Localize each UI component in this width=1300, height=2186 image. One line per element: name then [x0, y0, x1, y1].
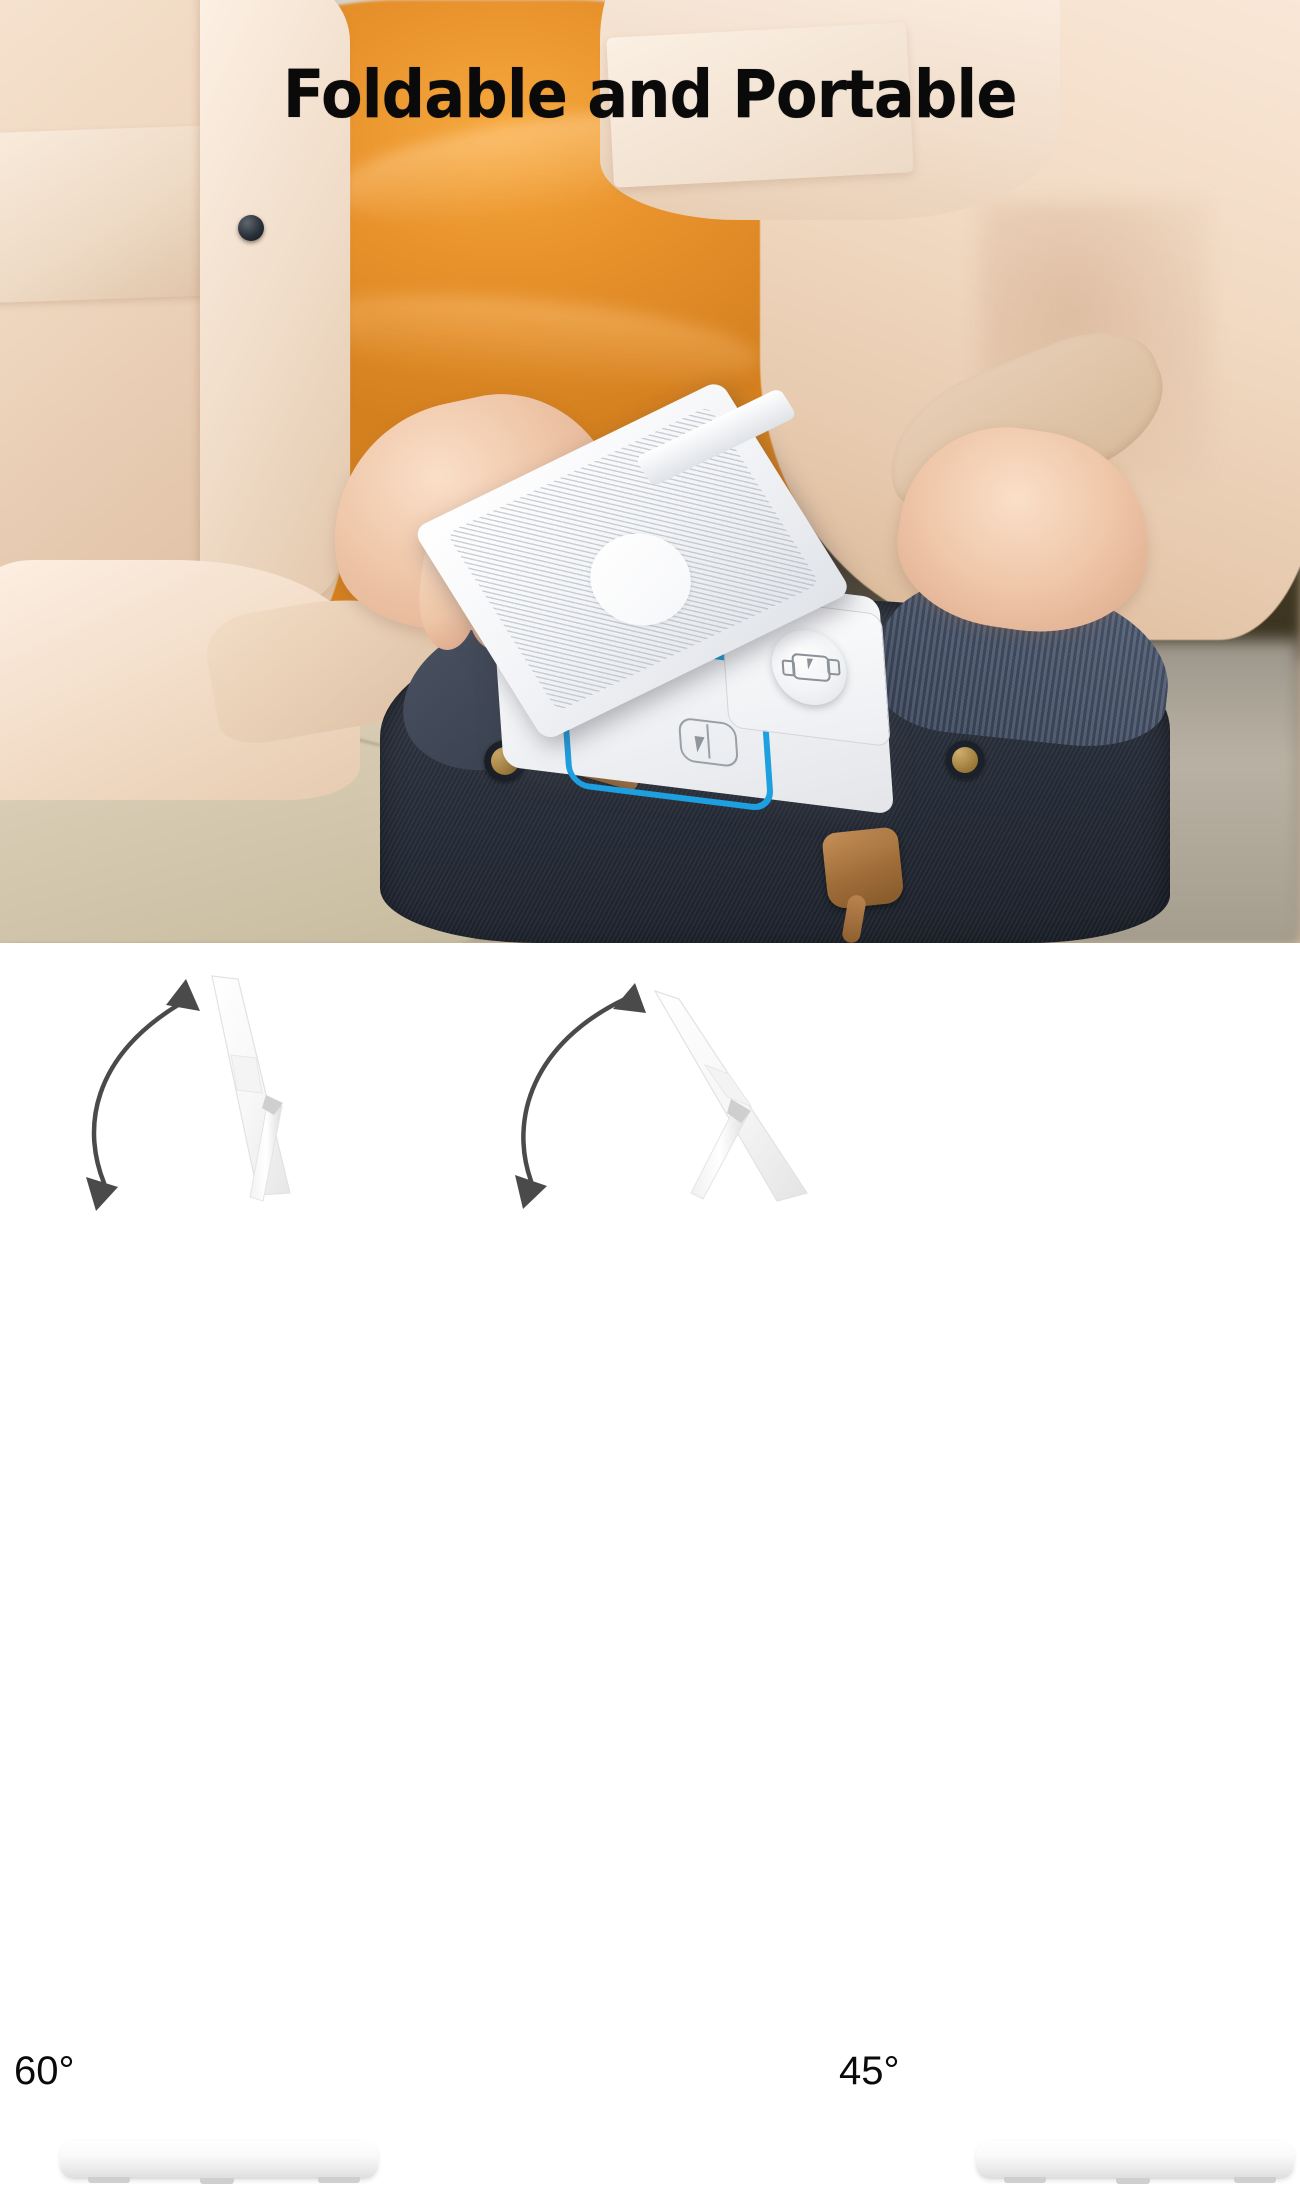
stand-angle-diagram-panel: 60°	[0, 943, 1300, 1256]
stand-base-bar	[976, 2141, 1294, 2179]
stand-base-bar	[60, 2141, 378, 2179]
stand-foot	[200, 2178, 234, 2184]
stand-open-45-icon	[433, 943, 867, 1256]
curved-double-arrow-icon	[515, 983, 646, 1209]
stand-foot	[318, 2177, 360, 2183]
jacket-button	[238, 215, 264, 241]
page-title: Foldable and Portable	[283, 56, 1017, 133]
headline-wrapper: Foldable and Portable	[0, 56, 1300, 133]
angle-label-60: 60°	[14, 2049, 75, 2094]
stand-foot	[1116, 2178, 1150, 2184]
panel-angle-60: 60°	[0, 943, 433, 1256]
hero-photo-panel: Foldable and Portable	[0, 0, 1300, 943]
panel-closed: Close up	[867, 943, 1300, 1256]
watch-band-icon	[827, 659, 841, 676]
stand-foot	[1234, 2177, 1276, 2183]
bag-grommet-icon	[945, 740, 985, 780]
curved-double-arrow-icon	[86, 979, 200, 1211]
stand-foot	[1004, 2177, 1046, 2183]
watch-band-icon	[782, 659, 796, 676]
wireless-charging-station	[452, 421, 888, 788]
panel-angle-45: 45°	[433, 943, 867, 1256]
stand-foot	[88, 2177, 130, 2183]
stand-open-60-icon	[0, 943, 433, 1256]
jacket-chest-pocket	[0, 125, 213, 304]
angle-label-45: 45°	[839, 2049, 900, 2094]
